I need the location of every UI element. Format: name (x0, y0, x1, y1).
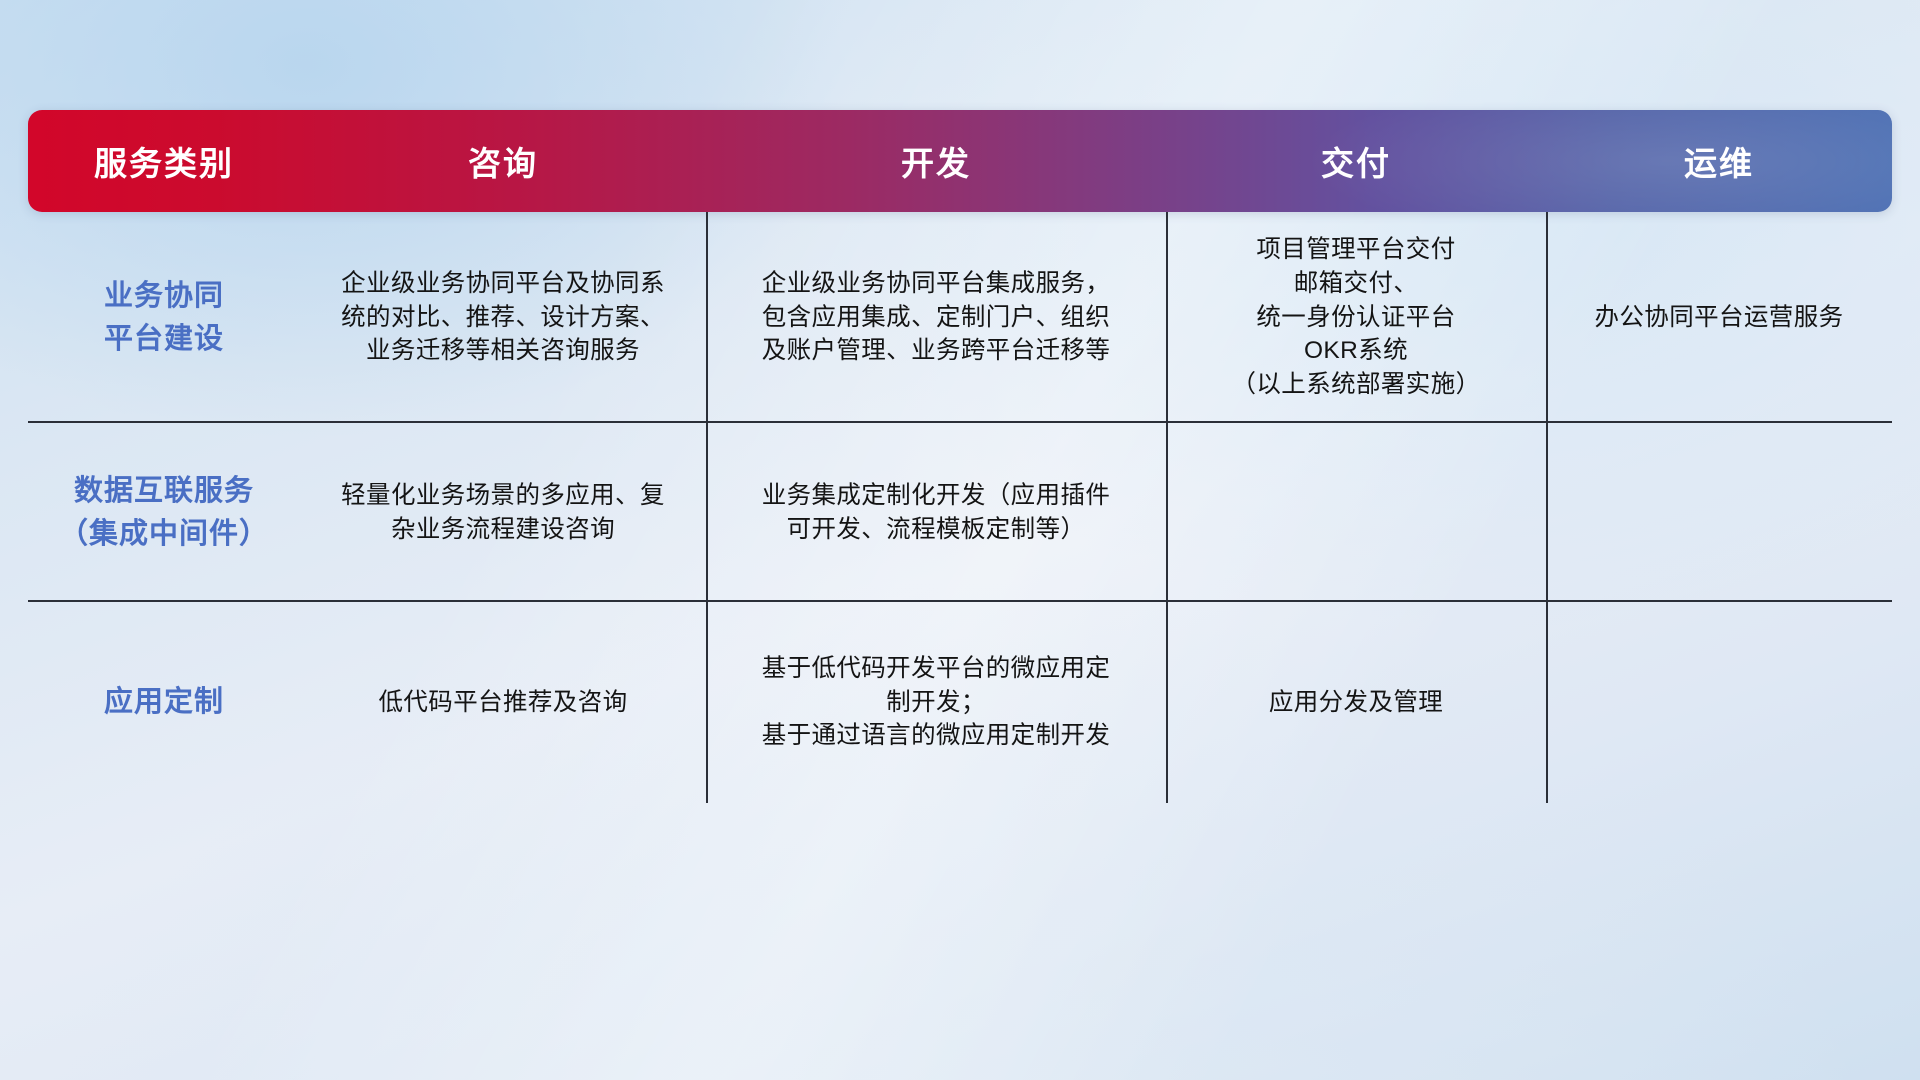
cell-development-row3: 基于低代码开发平台的微应用定 制开发； 基于通过语言的微应用定制开发 (706, 602, 1166, 803)
service-matrix-table: 服务类别 咨询 开发 交付 运维 业务协同 平台建设 (28, 110, 1892, 803)
cell-consulting-row1: 企业级业务协同平台及协同系 统的对比、推荐、设计方案、 业务迁移等相关咨询服务 (300, 212, 706, 423)
cell-delivery-row1: 项目管理平台交付 邮箱交付、 统一身份认证平台 OKR系统 （以上系统部署实施） (1166, 212, 1546, 423)
cell-consulting-row2: 轻量化业务场景的多应用、复 杂业务流程建设咨询 (300, 423, 706, 602)
column-header-operations: 运维 (1546, 110, 1892, 212)
table-row: 应用定制 低代码平台推荐及咨询 基于低代码开发平台的微应用定 制开发； 基于通过… (28, 602, 1892, 803)
column-header-development-label: 开发 (901, 137, 971, 185)
cell-development-row1: 企业级业务协同平台集成服务， 包含应用集成、定制门户、组织 及账户管理、业务跨平… (706, 212, 1166, 423)
table-row: 数据互联服务 （集成中间件） 轻量化业务场景的多应用、复 杂业务流程建设咨询 业… (28, 423, 1892, 602)
column-header-development: 开发 (706, 110, 1166, 212)
column-header-operations-label: 运维 (1684, 137, 1754, 185)
column-header-delivery-label: 交付 (1321, 137, 1391, 185)
cell-consulting-row3: 低代码平台推荐及咨询 (300, 602, 706, 803)
row-label-business-collaboration: 业务协同 平台建设 (28, 212, 300, 423)
column-header-delivery: 交付 (1166, 110, 1546, 212)
table-row: 业务协同 平台建设 企业级业务协同平台及协同系 统的对比、推荐、设计方案、 业务… (28, 212, 1892, 423)
slide-canvas: 服务类别 咨询 开发 交付 运维 业务协同 平台建设 (0, 0, 1920, 1080)
cell-delivery-row3: 应用分发及管理 (1166, 602, 1546, 803)
cell-delivery-row2 (1166, 423, 1546, 602)
table-header-row: 服务类别 咨询 开发 交付 运维 (28, 110, 1892, 212)
cell-operations-row1: 办公协同平台运营服务 (1546, 212, 1892, 423)
cell-operations-row3 (1546, 602, 1892, 803)
column-header-category: 服务类别 (28, 110, 300, 212)
column-header-consulting-label: 咨询 (468, 137, 538, 185)
row-label-app-customization: 应用定制 (28, 602, 300, 803)
row-label-data-interconnect: 数据互联服务 （集成中间件） (28, 423, 300, 602)
cell-operations-row2 (1546, 423, 1892, 602)
column-header-category-label: 服务类别 (94, 137, 234, 185)
table-body: 业务协同 平台建设 企业级业务协同平台及协同系 统的对比、推荐、设计方案、 业务… (28, 212, 1892, 803)
column-header-consulting: 咨询 (300, 110, 706, 212)
cell-development-row2: 业务集成定制化开发（应用插件 可开发、流程模板定制等） (706, 423, 1166, 602)
